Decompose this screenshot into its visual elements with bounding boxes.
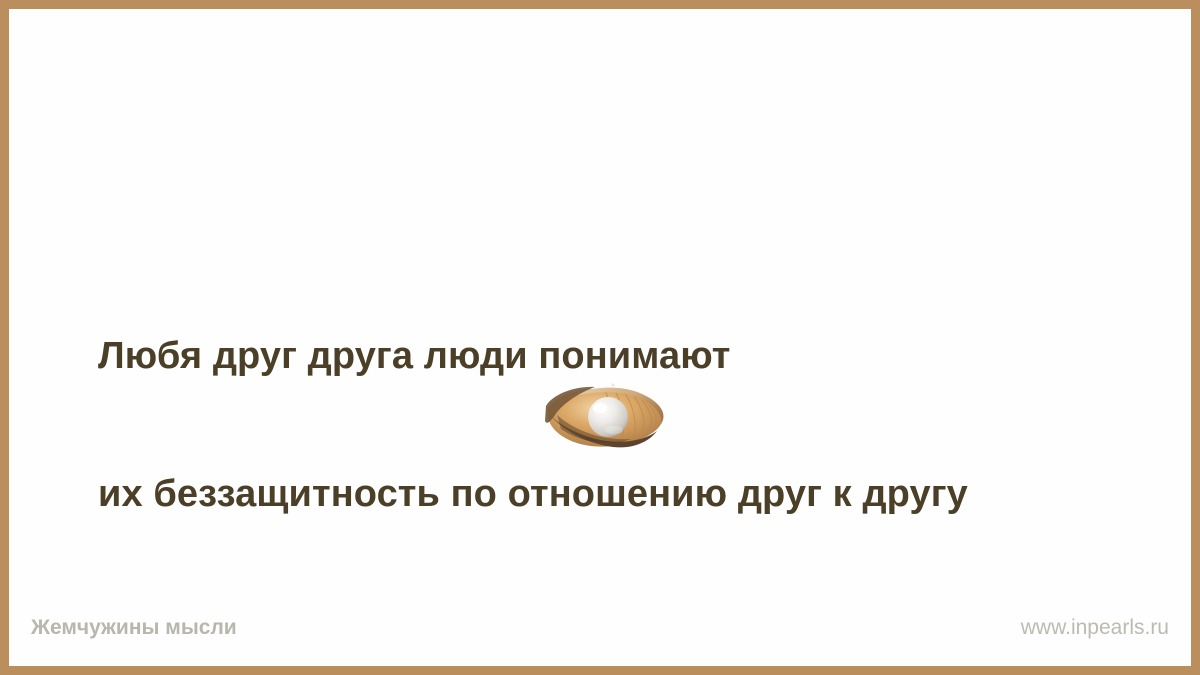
footer-site-link[interactable]: www.inpearls.ru — [1021, 616, 1169, 640]
footer-brand: Жемчужины мысли — [31, 616, 237, 640]
seashell-with-pearl-icon — [541, 381, 669, 453]
quote-card: Любя друг друга люди понимают их беззащи… — [0, 0, 1200, 675]
quote-line-2: их беззащитность по отношению друг к дру… — [98, 471, 1118, 517]
quote-line-1: Любя друг друга люди понимают — [98, 333, 1118, 379]
